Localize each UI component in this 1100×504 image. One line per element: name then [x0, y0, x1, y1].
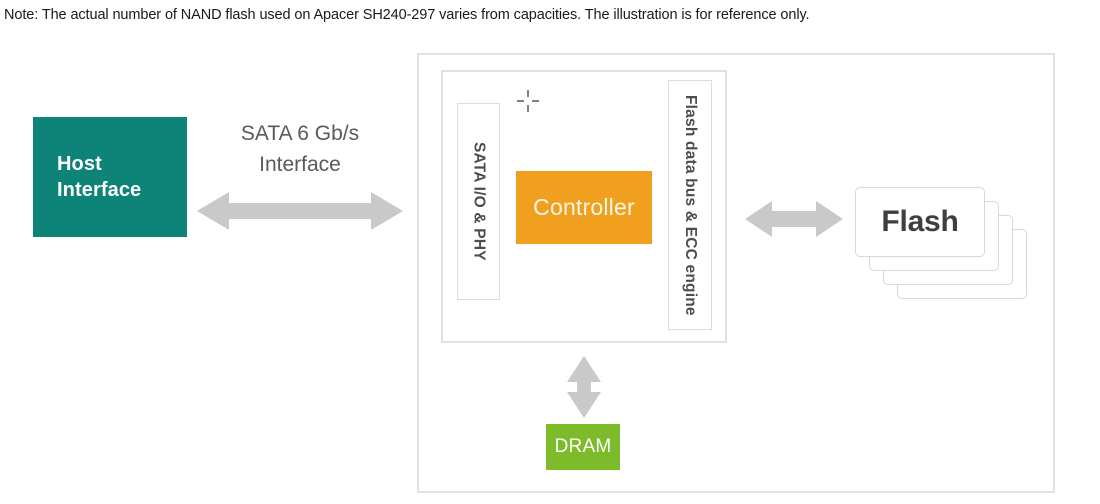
- sata-io-phy-label: SATA I/O & PHY: [470, 142, 488, 261]
- flash-data-bus-ecc-engine-block: Flash data bus & ECC engine: [668, 80, 712, 330]
- sata-interface-label-line1: SATA 6 Gb/s: [200, 118, 400, 149]
- controller-block: Controller: [516, 171, 652, 244]
- sata-interface-label: SATA 6 Gb/s Interface: [200, 118, 400, 180]
- sata-interface-label-line2: Interface: [200, 149, 400, 180]
- double-arrow-horizontal-host-icon: [197, 190, 403, 232]
- flash-stack: Flash: [855, 187, 1045, 312]
- double-arrow-horizontal-flash-icon: [745, 199, 843, 239]
- sata-io-phy-block: SATA I/O & PHY: [457, 103, 500, 300]
- crosshair-cursor-icon: [516, 89, 540, 113]
- ssd-block-diagram: Host Interface SATA 6 Gb/s Interface SAT…: [0, 0, 1100, 504]
- flash-data-bus-ecc-engine-label: Flash data bus & ECC engine: [681, 95, 699, 316]
- flash-card-front: Flash: [855, 187, 985, 257]
- flash-label: Flash: [881, 205, 958, 239]
- dram-label: DRAM: [555, 436, 612, 458]
- controller-label: Controller: [533, 194, 635, 221]
- dram-block: DRAM: [546, 424, 620, 470]
- host-interface-label-line2: Interface: [57, 177, 187, 203]
- double-arrow-vertical-dram-icon: [566, 356, 602, 418]
- host-interface-block: Host Interface: [33, 117, 187, 237]
- host-interface-label-line1: Host: [57, 151, 187, 177]
